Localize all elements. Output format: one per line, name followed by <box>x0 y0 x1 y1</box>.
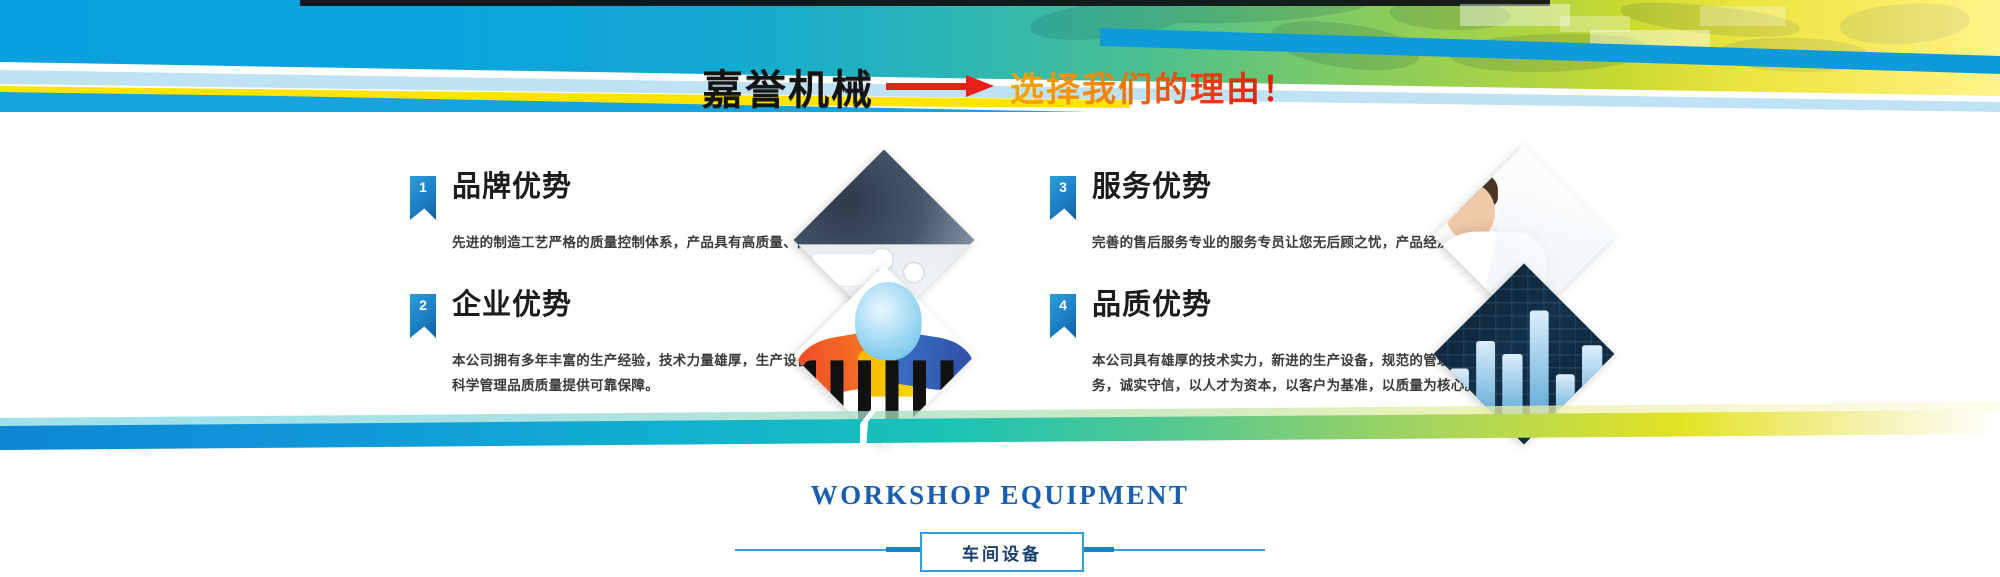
features-grid: 1 品牌优势 先进的制造工艺严格的质量控制体系，产品具有高质量、高稳定性和耐用性… <box>0 150 2000 410</box>
section-title-english: WORKSHOP EQUIPMENT <box>0 480 2000 511</box>
feature-number: 4 <box>1050 297 1076 313</box>
feature-title: 品质优势 <box>1092 290 1212 322</box>
slogan-text: 选择我们的理由！ <box>1010 62 1298 111</box>
feature-number: 2 <box>410 297 436 313</box>
brand-title: 嘉誉机械 <box>702 56 874 116</box>
feature-number: 1 <box>410 179 436 195</box>
feature-title: 企业优势 <box>452 290 572 322</box>
feature-title: 服务优势 <box>1092 172 1212 204</box>
pennant-number-icon: 3 <box>1050 176 1076 220</box>
pennant-number-icon: 2 <box>410 294 436 338</box>
section-title-box: 车间设备 <box>920 532 1084 572</box>
right-arrow-icon <box>886 75 998 97</box>
pennant-number-icon: 4 <box>1050 294 1076 338</box>
section-title-rule: 车间设备 <box>0 532 2000 568</box>
section-title-chinese: 车间设备 <box>962 540 1042 565</box>
bottom-gradient-band <box>0 400 2000 472</box>
feature-number: 3 <box>1050 179 1076 195</box>
pennant-number-icon: 1 <box>410 176 436 220</box>
headline: 嘉誉机械 选择我们的理由！ <box>0 58 2000 114</box>
banner-highlight-block <box>1460 4 1570 26</box>
page-root: 嘉誉机械 选择我们的理由！ 1 品牌优势 先进的制造工艺严格的质量控制体系，产品… <box>0 0 2000 577</box>
feature-title: 品牌优势 <box>452 172 572 204</box>
section-title: WORKSHOP EQUIPMENT 车间设备 <box>0 480 2000 577</box>
